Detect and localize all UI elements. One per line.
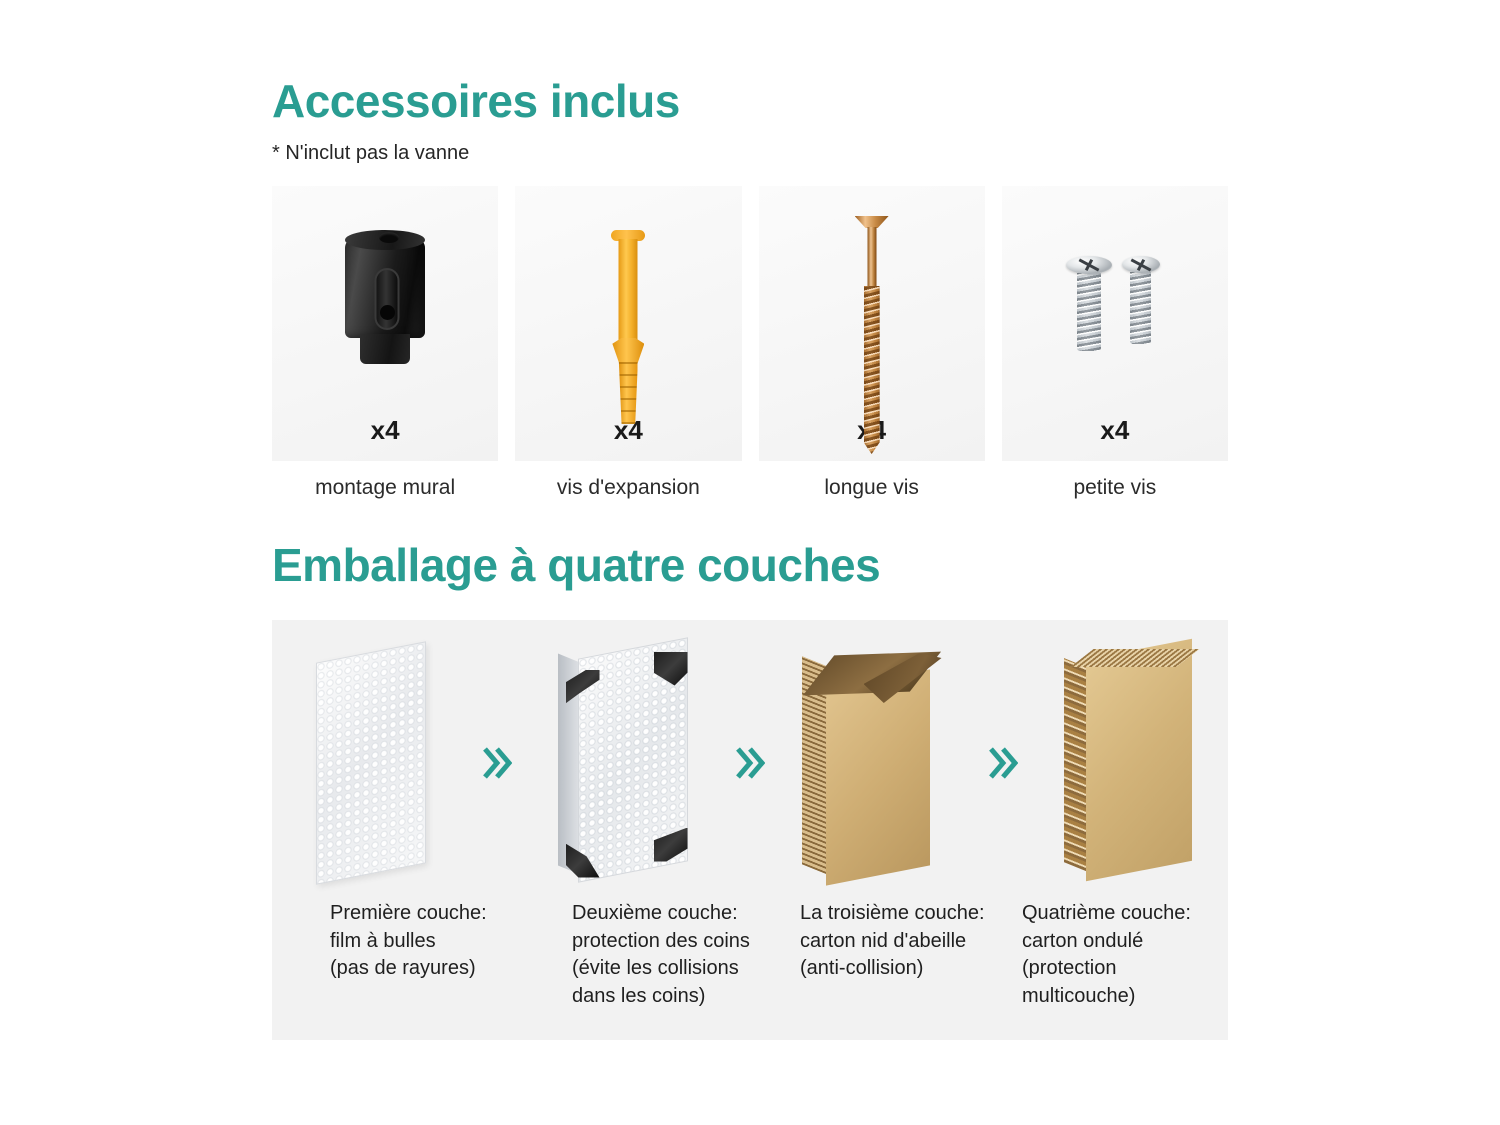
packaging-layer-4 [1031,630,1228,895]
accessory-quantity: x4 [1100,417,1129,461]
accessory-quantity: x4 [371,417,400,461]
packaging-title: Emballage à quatre couches [272,538,880,592]
packaging-caption-3: La troisième couche: carton nid d'abeill… [778,900,1006,1010]
packaging-caption-1: Première couche: film à bulles (pas de r… [272,900,536,1010]
wall-mount-icon [272,186,498,417]
caption-line: (protection [1022,955,1222,983]
honeycomb-carton-icon [802,645,952,880]
caption-line: (anti-collision) [800,955,1000,983]
accessory-card-vis-dexpansion[interactable]: x4 [515,186,741,461]
packaging-layer-row [272,630,1228,895]
small-screw-icon [1002,186,1228,417]
accessory-label-longue-vis: longue vis [759,476,985,500]
accessory-card-longue-vis[interactable]: x4 [759,186,985,461]
double-chevron-right-icon [469,745,525,781]
packaging-layer-1 [272,630,469,895]
caption-line: protection des coins [572,928,772,956]
caption-heading: La troisième couche: [800,900,1000,928]
corner-protector-icon [558,648,690,878]
double-chevron-right-icon [722,745,778,781]
caption-line: carton ondulé [1022,928,1222,956]
caption-line: carton nid d'abeille [800,928,1000,956]
accessory-card-montage-mural[interactable]: x4 [272,186,498,461]
packaging-layer-3 [778,630,975,895]
accessories-card-grid: x4 x4 x4 [272,186,1228,461]
caption-line: (évite les collisions [572,955,772,983]
double-chevron-right-icon [975,745,1031,781]
accessories-title: Accessoires inclus [272,74,680,128]
product-infographic: Accessoires inclus * N'inclut pas la van… [0,0,1500,1125]
caption-heading: Quatrième couche: [1022,900,1222,928]
packaging-caption-row: Première couche: film à bulles (pas de r… [272,900,1228,1010]
packaging-panel: Première couche: film à bulles (pas de r… [272,620,1228,1040]
accessory-label-petite-vis: petite vis [1002,476,1228,500]
accessory-label-montage-mural: montage mural [272,476,498,500]
bubble-film-icon [316,641,426,884]
accessories-note: * N'inclut pas la vanne [272,142,469,165]
caption-heading: Première couche: [330,900,530,928]
corrugated-carton-icon [1064,649,1196,877]
accessory-label-vis-dexpansion: vis d'expansion [515,476,741,500]
accessory-card-petite-vis[interactable]: x4 [1002,186,1228,461]
long-screw-icon [759,186,985,417]
packaging-layer-2 [525,630,722,895]
caption-line: film à bulles [330,928,530,956]
packaging-caption-4: Quatrième couche: carton ondulé (protect… [1006,900,1228,1010]
caption-line: dans les coins) [572,983,772,1011]
caption-heading: Deuxième couche: [572,900,772,928]
caption-line: multicouche) [1022,983,1222,1011]
packaging-caption-2: Deuxième couche: protection des coins (é… [536,900,778,1010]
accessories-label-row: montage mural vis d'expansion longue vis… [272,476,1228,500]
caption-line: (pas de rayures) [330,955,530,983]
expansion-anchor-icon [515,186,741,417]
